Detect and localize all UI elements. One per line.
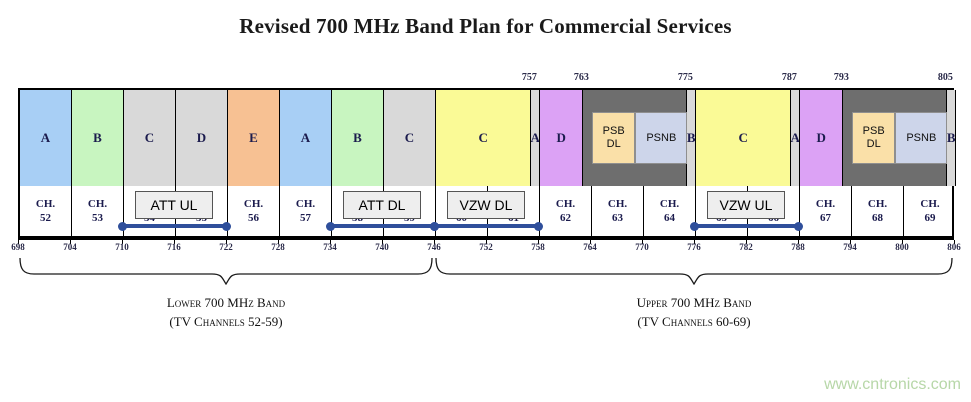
tv-channel-label: CH. 57 <box>296 198 315 226</box>
carrier-label-vzw-ul[interactable]: VZW UL <box>707 191 785 219</box>
band-group-brace <box>434 256 954 286</box>
psb-dl-block[interactable]: PSB DL <box>592 112 635 164</box>
band-group-caption: Lower 700 MHz Band(TV Channels 52-59) <box>167 294 285 332</box>
band-label: A <box>41 130 50 146</box>
carrier-span-endpoint <box>794 222 803 231</box>
top-tick-label: 793 <box>834 72 849 83</box>
band-group-channels: (TV Channels 52-59) <box>167 313 285 332</box>
tv-channel-cell[interactable]: CH. 63 <box>592 186 644 238</box>
band-block-c[interactable]: C <box>384 90 436 186</box>
carrier-span-bar <box>330 224 434 228</box>
public-safety-label: PSNB <box>646 132 676 145</box>
carrier-label-text: VZW DL <box>460 197 513 213</box>
psb-dl-block[interactable]: PSB DL <box>852 112 895 164</box>
tv-channel-label: CH. 64 <box>660 198 679 226</box>
bottom-tick-label: 716 <box>167 242 181 252</box>
top-tick-label: 787 <box>782 72 797 83</box>
carrier-span-bar <box>694 224 798 228</box>
band-group-caption: Upper 700 MHz Band(TV Channels 60-69) <box>637 294 752 332</box>
carrier-span-bar <box>434 224 538 228</box>
band-block-a[interactable]: A <box>280 90 332 186</box>
bottom-tick-label: 788 <box>791 242 805 252</box>
bottom-tick-label: 800 <box>895 242 909 252</box>
band-label: B <box>947 130 955 146</box>
carrier-label-text: ATT DL <box>359 197 406 213</box>
band-block-a[interactable]: A <box>791 90 800 186</box>
carrier-span-endpoint <box>326 222 335 231</box>
band-block-c[interactable]: C <box>696 90 791 186</box>
band-label: B <box>93 130 102 146</box>
band-label: D <box>816 130 825 146</box>
carrier-span-endpoint <box>690 222 699 231</box>
band-label: C <box>738 130 747 146</box>
band-block-b[interactable]: B <box>72 90 124 186</box>
top-tick-label: 763 <box>574 72 589 83</box>
band-label: E <box>249 130 258 146</box>
bottom-tick-label: 740 <box>375 242 389 252</box>
band-block-a[interactable]: A <box>20 90 72 186</box>
top-tick-label: 805 <box>938 72 953 83</box>
band-label: C <box>145 130 154 146</box>
band-block-b[interactable]: B <box>687 90 696 186</box>
bottom-tick-label: 764 <box>583 242 597 252</box>
band-plan-diagram: 757763775787793805 ABCDEABCCADBCADBPSB D… <box>0 46 971 402</box>
band-block-c[interactable]: C <box>124 90 176 186</box>
band-label: D <box>197 130 206 146</box>
tv-channel-cell[interactable]: CH. 64 <box>644 186 696 238</box>
tv-channel-cell[interactable]: CH. 67 <box>800 186 852 238</box>
band-block-d[interactable]: D <box>800 90 843 186</box>
bottom-tick-label: 710 <box>115 242 129 252</box>
tv-channel-cell[interactable]: CH. 68 <box>852 186 904 238</box>
band-block-a[interactable]: A <box>531 90 540 186</box>
band-block-b[interactable]: B <box>332 90 384 186</box>
bottom-tick-label: 728 <box>271 242 285 252</box>
carrier-span-endpoint <box>222 222 231 231</box>
band-blocks-row: ABCDEABCCADBCADBPSB DLPSNBPSB DLPSNB <box>20 90 952 186</box>
bottom-tick-label: 734 <box>323 242 337 252</box>
tv-channel-cell[interactable]: CH. 52 <box>20 186 72 238</box>
public-safety-label: PSB DL <box>603 125 625 150</box>
band-block-e[interactable]: E <box>228 90 280 186</box>
carrier-label-att-ul[interactable]: ATT UL <box>135 191 213 219</box>
band-group-brace <box>18 256 434 286</box>
tv-channel-label: CH. 52 <box>36 198 55 226</box>
tv-channel-cell[interactable]: CH. 62 <box>540 186 592 238</box>
carrier-label-vzw-dl[interactable]: VZW DL <box>447 191 525 219</box>
bottom-tick-label: 752 <box>479 242 493 252</box>
psnb-block[interactable]: PSNB <box>895 112 947 164</box>
carrier-span-bar <box>122 224 226 228</box>
tv-channel-label: CH. 67 <box>816 198 835 226</box>
bottom-tick-label: 776 <box>687 242 701 252</box>
band-label: B <box>687 130 695 146</box>
tv-channel-label: CH. 53 <box>88 198 107 226</box>
band-label: C <box>405 130 414 146</box>
psnb-block[interactable]: PSNB <box>635 112 687 164</box>
tv-channel-label: CH. 68 <box>868 198 887 226</box>
bottom-tick-label: 704 <box>63 242 77 252</box>
band-group-name: Upper 700 MHz Band <box>637 294 752 313</box>
top-tick-label: 757 <box>522 72 537 83</box>
carrier-span-endpoint <box>430 222 439 231</box>
tv-channel-cell[interactable]: CH. 56 <box>228 186 280 238</box>
band-block-c[interactable]: C <box>436 90 531 186</box>
tv-channel-label: CH. 62 <box>556 198 575 226</box>
bottom-tick-label: 758 <box>531 242 545 252</box>
carrier-span-endpoint <box>534 222 543 231</box>
band-label: A <box>791 130 800 146</box>
public-safety-label: PSB DL <box>863 125 885 150</box>
band-group-channels: (TV Channels 60-69) <box>637 313 752 332</box>
band-label: A <box>301 130 310 146</box>
tv-channel-cell[interactable]: CH. 53 <box>72 186 124 238</box>
band-label: A <box>531 130 540 146</box>
watermark: www.cntronics.com <box>824 376 961 394</box>
band-block-d[interactable]: D <box>540 90 583 186</box>
carrier-label-text: VZW UL <box>720 197 773 213</box>
band-label: D <box>556 130 565 146</box>
top-tick-label: 775 <box>678 72 693 83</box>
tv-channel-cell[interactable]: CH. 69 <box>904 186 956 238</box>
bottom-tick-label: 722 <box>219 242 233 252</box>
bottom-tick-label: 806 <box>947 242 961 252</box>
band-group-name: Lower 700 MHz Band <box>167 294 285 313</box>
bottom-tick-label: 746 <box>427 242 441 252</box>
band-label: C <box>478 130 487 146</box>
bottom-tick-label: 782 <box>739 242 753 252</box>
carrier-span-endpoint <box>118 222 127 231</box>
tv-channel-label: CH. 63 <box>608 198 627 226</box>
bottom-tick-label: 794 <box>843 242 857 252</box>
bottom-tick-label: 770 <box>635 242 649 252</box>
band-block-b[interactable]: B <box>947 90 956 186</box>
tv-channel-cell[interactable]: CH. 57 <box>280 186 332 238</box>
carrier-label-text: ATT UL <box>151 197 198 213</box>
tv-channel-label: CH. 69 <box>920 198 939 226</box>
page-title: Revised 700 MHz Band Plan for Commercial… <box>0 0 971 46</box>
band-block-d[interactable]: D <box>176 90 228 186</box>
tv-channel-label: CH. 56 <box>244 198 263 226</box>
band-label: B <box>353 130 362 146</box>
public-safety-label: PSNB <box>906 132 936 145</box>
carrier-label-att-dl[interactable]: ATT DL <box>343 191 421 219</box>
bottom-tick-label: 698 <box>11 242 25 252</box>
